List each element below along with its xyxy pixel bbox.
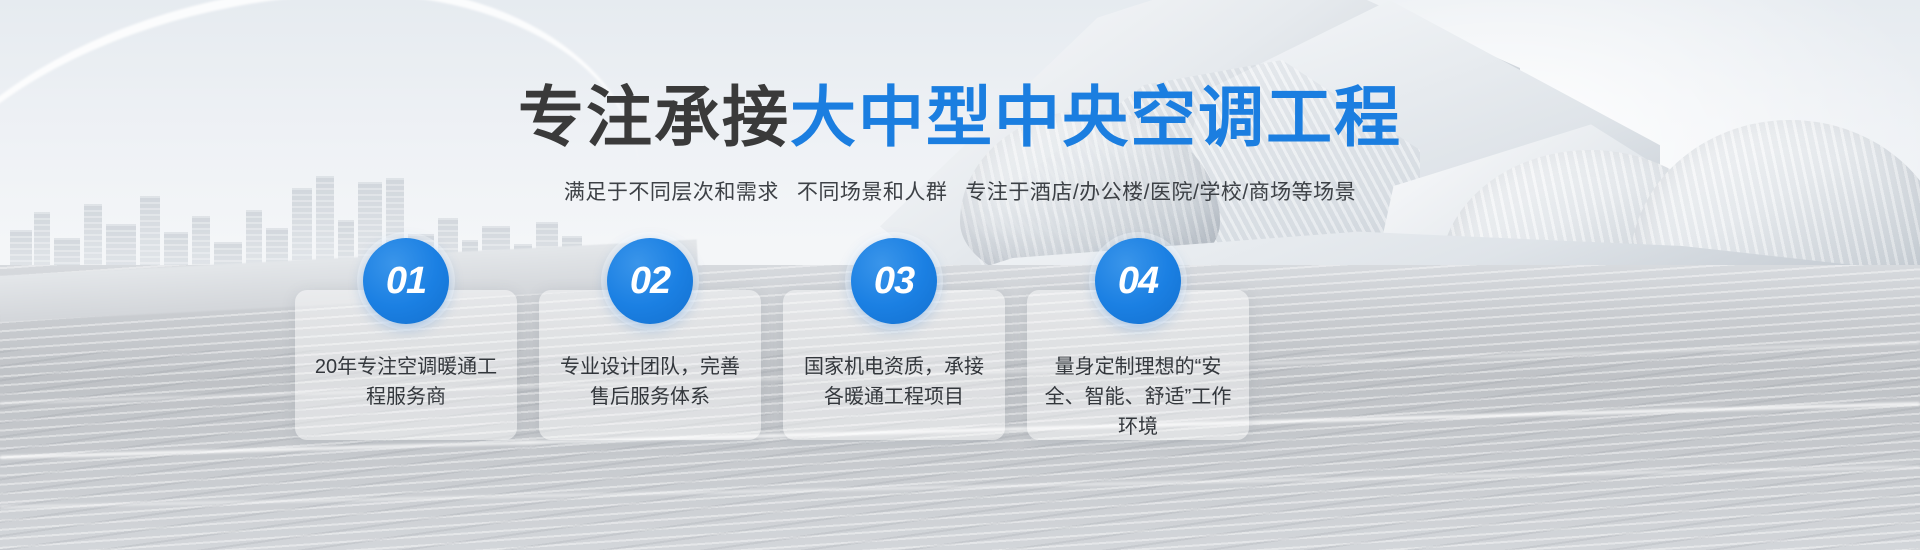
badge-label: 02 [630,262,670,300]
badge-label: 04 [1118,262,1158,300]
badge-label: 01 [386,262,426,300]
feature-card-text: 量身定制理想的“安全、智能、舒适”工作环境 [1043,352,1233,442]
badge-number-01: 01 [363,238,449,324]
feature-card-04[interactable]: 04 量身定制理想的“安全、智能、舒适”工作环境 [1027,290,1249,440]
badge-number-02: 02 [607,238,693,324]
feature-card-text: 国家机电资质，承接各暖通工程项目 [799,352,989,412]
feature-card-02[interactable]: 02 专业设计团队，完善售后服务体系 [539,290,761,440]
subtitle-segment-1: 满足于不同层次和需求 [564,181,779,204]
hero-banner: 专注承接大中型中央空调工程 满足于不同层次和需求不同场景和人群专注于酒店/办公楼… [0,0,1920,550]
feature-card-03[interactable]: 03 国家机电资质，承接各暖通工程项目 [783,290,1005,440]
feature-card-list: 01 20年专注空调暖通工程服务商 02 专业设计团队，完善售后服务体系 03 … [295,255,1285,455]
badge-number-04: 04 [1095,238,1181,324]
headline-blue-text: 大中型中央空调工程 [790,80,1402,154]
feature-card-01[interactable]: 01 20年专注空调暖通工程服务商 [295,290,517,440]
headline-dark-text: 专注承接 [518,80,790,154]
page-title: 专注承接大中型中央空调工程 [0,84,1920,150]
subtitle-segment-3: 专注于酒店/办公楼/医院/学校/商场等场景 [965,181,1356,204]
subtitle-segment-2: 不同场景和人群 [797,181,948,204]
feature-card-text: 20年专注空调暖通工程服务商 [311,352,501,412]
feature-card-text: 专业设计团队，完善售后服务体系 [555,352,745,412]
badge-number-03: 03 [851,238,937,324]
page-subtitle: 满足于不同层次和需求不同场景和人群专注于酒店/办公楼/医院/学校/商场等场景 [0,176,1920,206]
badge-label: 03 [874,262,914,300]
